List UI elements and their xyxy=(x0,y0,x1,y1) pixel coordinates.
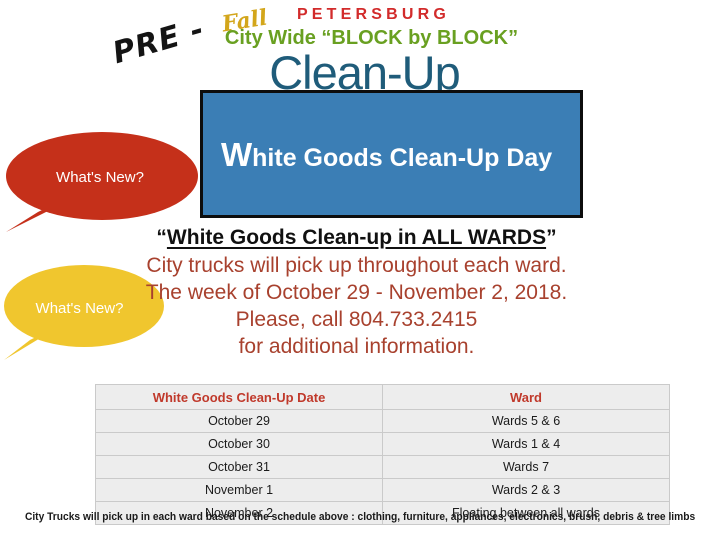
footer-note: City Trucks will pick up in each ward ba… xyxy=(25,511,688,523)
white-goods-banner: White Goods Clean-Up Day xyxy=(200,90,583,218)
table-cell-date: October 29 xyxy=(96,410,383,433)
table-header-ward: Ward xyxy=(383,385,670,410)
white-goods-banner-text: White Goods Clean-Up Day xyxy=(203,138,552,171)
body-paragraph: City trucks will pick up throughout each… xyxy=(0,252,713,360)
table-header-row: White Goods Clean-Up Date Ward xyxy=(96,385,670,410)
speech-bubble-red-label: What's New? xyxy=(0,169,204,186)
city-name-heading: PETERSBURG xyxy=(0,6,713,24)
schedule-table: White Goods Clean-Up Date Ward October 2… xyxy=(95,384,670,525)
body-line-4: for additional information. xyxy=(0,333,713,360)
quote-open-mark: “ xyxy=(156,226,167,249)
body-line-2: The week of October 29 - November 2, 201… xyxy=(0,279,713,306)
speech-bubble-red: What's New? xyxy=(4,128,204,232)
table-cell-date: October 31 xyxy=(96,456,383,479)
table-cell-date: November 1 xyxy=(96,479,383,502)
table-cell-ward: Wards 5 & 6 xyxy=(383,410,670,433)
table-header-date: White Goods Clean-Up Date xyxy=(96,385,383,410)
table-cell-ward: Wards 1 & 4 xyxy=(383,433,670,456)
quote-close-mark: ” xyxy=(546,226,557,249)
flyer-canvas: PRE - Fall PETERSBURG City Wide “BLOCK b… xyxy=(0,0,713,535)
table-cell-ward: Wards 2 & 3 xyxy=(383,479,670,502)
table-row: October 31 Wards 7 xyxy=(96,456,670,479)
table-cell-ward: Wards 7 xyxy=(383,456,670,479)
body-line-1: City trucks will pick up throughout each… xyxy=(0,252,713,279)
table-cell-date: October 30 xyxy=(96,433,383,456)
banner-drop-cap: W xyxy=(221,136,252,173)
table-row: October 30 Wards 1 & 4 xyxy=(96,433,670,456)
banner-rest-text: hite Goods Clean-Up Day xyxy=(252,144,552,172)
quote-headline: “White Goods Clean-up in ALL WARDS” xyxy=(0,226,713,250)
quote-headline-text: White Goods Clean-up in ALL WARDS xyxy=(167,226,546,249)
table-row: November 1 Wards 2 & 3 xyxy=(96,479,670,502)
body-line-3: Please, call 804.733.2415 xyxy=(0,306,713,333)
table-row: October 29 Wards 5 & 6 xyxy=(96,410,670,433)
